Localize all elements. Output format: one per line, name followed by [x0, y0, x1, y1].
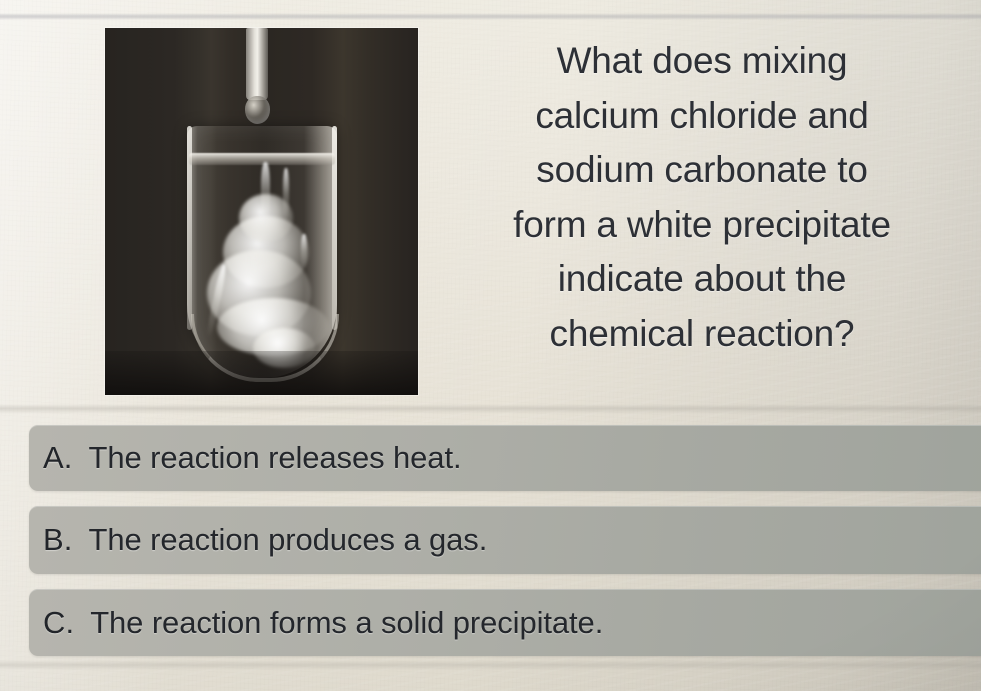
droplet-icon [245, 96, 270, 124]
question-line: sodium carbonate to [432, 143, 972, 198]
test-tube-precipitate-photo [105, 28, 418, 395]
answer-option-a-label: The reaction releases heat. [89, 440, 462, 476]
answer-option-c[interactable]: C. The reaction forms a solid precipitat… [29, 589, 981, 656]
question-block: What does mixing calcium chloride and so… [0, 20, 981, 404]
precipitate-streak [301, 234, 307, 268]
answer-option-c-label: The reaction forms a solid precipitate. [90, 605, 603, 641]
question-prompt: What does mixing calcium chloride and so… [432, 34, 972, 361]
pipette-icon [246, 28, 268, 100]
answer-option-a-row: A. The reaction releases heat. [29, 440, 461, 476]
answer-option-b[interactable]: B. The reaction produces a gas. [29, 506, 981, 574]
photo-shadow-band [105, 351, 418, 395]
question-line: indicate about the [432, 252, 972, 307]
answer-option-b-letter: B. [43, 522, 73, 558]
quiz-screen: What does mixing calcium chloride and so… [0, 0, 981, 691]
question-line: What does mixing [432, 34, 972, 89]
answer-option-b-row: B. The reaction produces a gas. [29, 522, 487, 558]
liquid-surface-line [189, 153, 335, 165]
question-line: calcium chloride and [432, 89, 972, 144]
answer-option-c-row: C. The reaction forms a solid precipitat… [29, 605, 603, 641]
answer-option-b-label: The reaction produces a gas. [89, 522, 488, 558]
answer-option-c-letter: C. [43, 605, 74, 641]
precipitate-streak [283, 168, 289, 220]
question-line: chemical reaction? [432, 307, 972, 362]
question-line: form a white precipitate [432, 198, 972, 253]
answer-option-a-letter: A. [43, 440, 73, 476]
precipitate-streak [261, 162, 270, 224]
answer-option-a[interactable]: A. The reaction releases heat. [29, 425, 981, 491]
